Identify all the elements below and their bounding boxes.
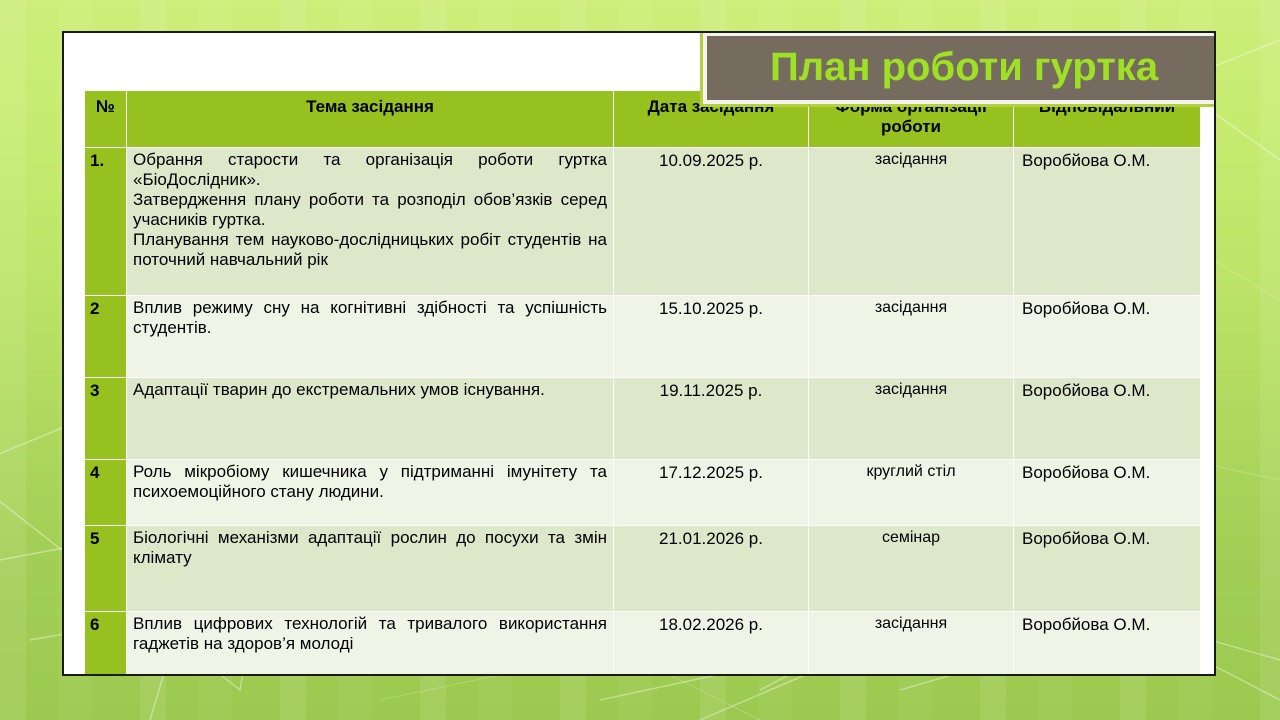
- cell-form: засідання: [809, 378, 1014, 460]
- plan-table: № Тема засідання Дата засідання Форма ор…: [84, 90, 1201, 676]
- cell-topic: Біологічні механізми адаптації рослин до…: [127, 526, 614, 612]
- topic-line: Вплив режиму сну на когнітивні здібності…: [133, 298, 607, 338]
- cell-date: 19.11.2025 р.: [614, 378, 809, 460]
- cell-form: засідання: [809, 296, 1014, 378]
- table-row: 6Вплив цифрових технологій та тривалого …: [85, 612, 1201, 677]
- cell-date: 15.10.2025 р.: [614, 296, 809, 378]
- cell-date: 18.02.2026 р.: [614, 612, 809, 677]
- column-header-topic: Тема засідання: [127, 91, 614, 148]
- cell-responsible: Воробйова О.М.: [1014, 612, 1201, 677]
- cell-topic: Вплив цифрових технологій та тривалого в…: [127, 612, 614, 677]
- topic-line: Роль мікробіому кишечника у підтриманні …: [133, 462, 607, 502]
- cell-number: 4: [85, 460, 127, 526]
- cell-responsible: Воробйова О.М.: [1014, 460, 1201, 526]
- cell-date: 10.09.2025 р.: [614, 148, 809, 296]
- table-row: 3Адаптації тварин до екстремальних умов …: [85, 378, 1201, 460]
- slide-title-fill: План роботи гуртка: [707, 36, 1216, 100]
- table-row: 5Біологічні механізми адаптації рослин д…: [85, 526, 1201, 612]
- topic-line: Біологічні механізми адаптації рослин до…: [133, 528, 607, 568]
- table-row: 4Роль мікробіому кишечника у підтриманні…: [85, 460, 1201, 526]
- cell-form: семінар: [809, 526, 1014, 612]
- table-row: 1.Обрання старости та організація роботи…: [85, 148, 1201, 296]
- topic-line: Затвердження плану роботи та розподіл об…: [133, 190, 607, 230]
- cell-form: засідання: [809, 612, 1014, 677]
- cell-responsible: Воробйова О.М.: [1014, 148, 1201, 296]
- cell-responsible: Воробйова О.М.: [1014, 526, 1201, 612]
- cell-responsible: Воробйова О.М.: [1014, 378, 1201, 460]
- slide-title-box: План роботи гуртка: [700, 31, 1216, 107]
- table-body: 1.Обрання старости та організація роботи…: [85, 148, 1201, 677]
- cell-topic: Вплив режиму сну на когнітивні здібності…: [127, 296, 614, 378]
- cell-number: 1.: [85, 148, 127, 296]
- slide-title-inner-border: План роботи гуртка: [703, 32, 1216, 104]
- cell-number: 6: [85, 612, 127, 677]
- column-header-number: №: [85, 91, 127, 148]
- cell-responsible: Воробйова О.М.: [1014, 296, 1201, 378]
- page-title: План роботи гуртка: [770, 47, 1158, 89]
- cell-topic: Роль мікробіому кишечника у підтриманні …: [127, 460, 614, 526]
- cell-form: засідання: [809, 148, 1014, 296]
- cell-topic: Адаптації тварин до екстремальних умов і…: [127, 378, 614, 460]
- cell-topic: Обрання старости та організація роботи г…: [127, 148, 614, 296]
- topic-line: Вплив цифрових технологій та тривалого в…: [133, 614, 607, 654]
- cell-form: круглий стіл: [809, 460, 1014, 526]
- cell-date: 17.12.2025 р.: [614, 460, 809, 526]
- table-row: 2Вплив режиму сну на когнітивні здібност…: [85, 296, 1201, 378]
- topic-line: Обрання старости та організація роботи г…: [133, 150, 607, 190]
- cell-number: 5: [85, 526, 127, 612]
- topic-line: Адаптації тварин до екстремальних умов і…: [133, 380, 607, 400]
- slide-content-panel: № Тема засідання Дата засідання Форма ор…: [62, 31, 1216, 676]
- cell-date: 21.01.2026 р.: [614, 526, 809, 612]
- cell-number: 3: [85, 378, 127, 460]
- cell-number: 2: [85, 296, 127, 378]
- topic-line: Планування тем науково-дослідницьких роб…: [133, 230, 607, 270]
